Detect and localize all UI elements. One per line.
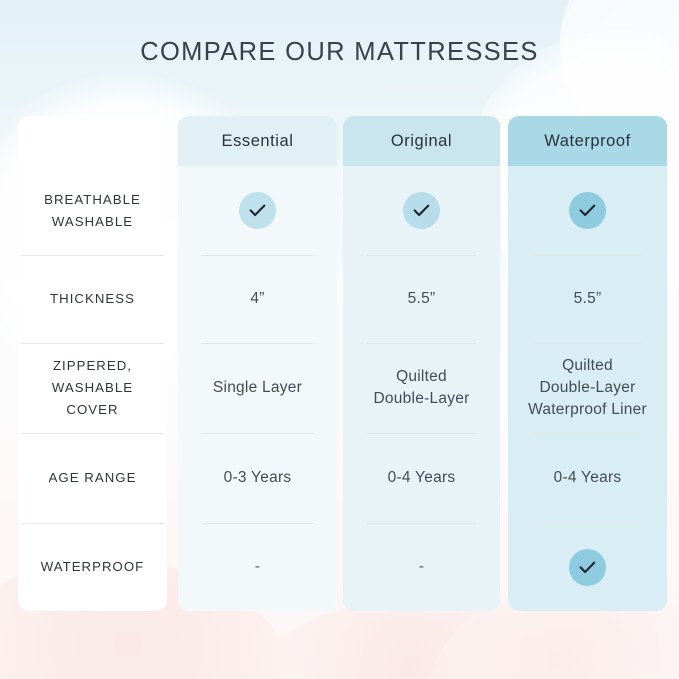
comparison-page: COMPARE OUR MATTRESSES BREATHABLE WASHAB…: [0, 0, 679, 679]
column-header-blank: [18, 116, 167, 166]
cell-value: 0-4 Years: [554, 467, 622, 489]
cell-value: Single Layer: [213, 377, 302, 399]
row-label-zippered-washable-cover: ZIPPERED, WASHABLE COVER: [18, 343, 167, 433]
cell-waterproof-waterproof: [508, 523, 667, 611]
cell-original-thickness: 5.5”: [343, 255, 500, 343]
cell-essential-breathable-washable: [178, 166, 337, 255]
row-label-breathable-washable: BREATHABLE WASHABLE: [18, 166, 167, 255]
cloud-decoration: [240, 600, 580, 679]
cell-original-zippered-washable-cover: Quilted Double-Layer: [343, 343, 500, 433]
table-column-essential[interactable]: Essential 4” Single Layer 0-3 Years -: [178, 116, 337, 611]
cell-value: -: [419, 556, 425, 579]
cell-essential-age-range: 0-3 Years: [178, 433, 337, 523]
column-gap: [500, 116, 508, 611]
check-icon: [239, 192, 276, 229]
cell-waterproof-age-range: 0-4 Years: [508, 433, 667, 523]
check-icon: [569, 549, 606, 586]
cell-waterproof-breathable-washable: [508, 166, 667, 255]
cell-value: 0-3 Years: [224, 467, 292, 489]
column-header-essential[interactable]: Essential: [178, 116, 337, 166]
page-title: COMPARE OUR MATTRESSES: [0, 38, 679, 67]
row-label-text: ZIPPERED, WASHABLE COVER: [30, 355, 155, 420]
row-label-text: THICKNESS: [50, 288, 135, 310]
cell-essential-thickness: 4”: [178, 255, 337, 343]
cell-value: 0-4 Years: [388, 467, 456, 489]
comparison-table: BREATHABLE WASHABLE THICKNESS ZIPPERED, …: [18, 116, 667, 611]
check-icon: [403, 192, 440, 229]
column-header-original[interactable]: Original: [343, 116, 500, 166]
cell-essential-zippered-washable-cover: Single Layer: [178, 343, 337, 433]
column-gap: [167, 116, 178, 611]
cell-original-waterproof: -: [343, 523, 500, 611]
row-label-text: WATERPROOF: [41, 556, 145, 578]
check-icon: [569, 192, 606, 229]
cell-essential-waterproof: -: [178, 523, 337, 611]
cell-value: -: [255, 556, 261, 579]
cell-value: Quilted Double-Layer: [373, 366, 469, 410]
table-column-labels: BREATHABLE WASHABLE THICKNESS ZIPPERED, …: [18, 116, 167, 611]
cell-value: 5.5”: [408, 288, 436, 310]
cell-waterproof-thickness: 5.5”: [508, 255, 667, 343]
row-label-thickness: THICKNESS: [18, 255, 167, 343]
row-label-text: AGE RANGE: [49, 467, 137, 489]
table-column-original[interactable]: Original 5.5” Quilted Double-Layer 0-4 Y…: [343, 116, 500, 611]
cell-original-age-range: 0-4 Years: [343, 433, 500, 523]
column-header-waterproof[interactable]: Waterproof: [508, 116, 667, 166]
row-label-waterproof: WATERPROOF: [18, 523, 167, 611]
cell-value: Quilted Double-Layer Waterproof Liner: [528, 355, 647, 421]
cell-original-breathable-washable: [343, 166, 500, 255]
cell-value: 4”: [250, 288, 264, 310]
cell-value: 5.5”: [574, 288, 602, 310]
row-label-age-range: AGE RANGE: [18, 433, 167, 523]
cell-waterproof-zippered-washable-cover: Quilted Double-Layer Waterproof Liner: [508, 343, 667, 433]
row-label-text: BREATHABLE WASHABLE: [44, 189, 141, 233]
table-column-waterproof[interactable]: Waterproof 5.5” Quilted Double-Layer Wat…: [508, 116, 667, 611]
